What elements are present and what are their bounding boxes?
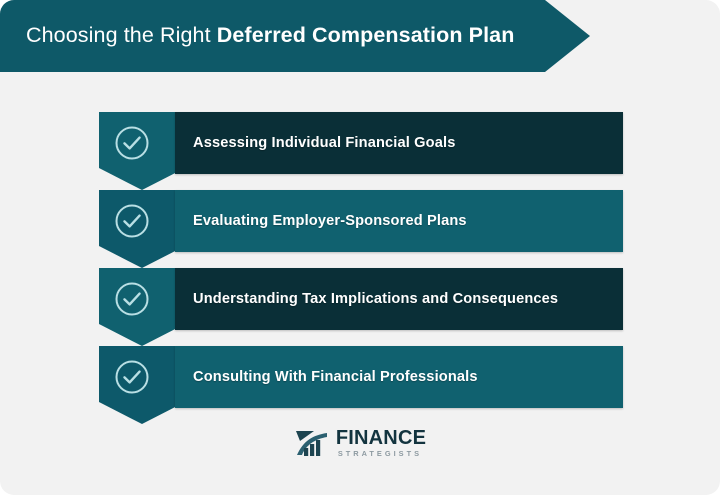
step-label: Understanding Tax Implications and Conse… <box>193 291 558 307</box>
header-banner: Choosing the Right Deferred Compensation… <box>0 0 590 72</box>
infographic-canvas: Choosing the Right Deferred Compensation… <box>0 0 720 495</box>
check-circle-icon <box>113 202 151 240</box>
bar-chart-arrow-icon <box>294 428 330 458</box>
step-label: Assessing Individual Financial Goals <box>193 135 456 151</box>
brand-logo: FINANCE STRATEGISTS <box>0 428 720 458</box>
step-bar: Evaluating Employer-Sponsored Plans <box>175 190 623 252</box>
logo-subtitle: STRATEGISTS <box>336 450 426 457</box>
check-circle-icon <box>113 280 151 318</box>
step-badge <box>99 190 185 268</box>
list-item[interactable]: Consulting With Financial Professionals <box>0 346 720 424</box>
list-item[interactable]: Assessing Individual Financial Goals <box>0 112 720 190</box>
check-circle-icon <box>113 124 151 162</box>
logo-wordmark: FINANCE STRATEGISTS <box>336 428 426 457</box>
step-bar: Assessing Individual Financial Goals <box>175 112 623 174</box>
step-list: Assessing Individual Financial Goals Eva… <box>0 112 720 424</box>
page-title: Choosing the Right Deferred Compensation… <box>26 24 514 48</box>
step-label: Evaluating Employer-Sponsored Plans <box>193 213 467 229</box>
list-item[interactable]: Understanding Tax Implications and Conse… <box>0 268 720 346</box>
step-label: Consulting With Financial Professionals <box>193 369 478 385</box>
step-badge <box>99 346 185 424</box>
list-item[interactable]: Evaluating Employer-Sponsored Plans <box>0 190 720 268</box>
step-badge <box>99 112 185 190</box>
page-title-regular: Choosing the Right <box>26 23 217 47</box>
step-bar: Consulting With Financial Professionals <box>175 346 623 408</box>
step-badge <box>99 268 185 346</box>
check-circle-icon <box>113 358 151 396</box>
page-title-strong: Deferred Compensation Plan <box>217 23 515 47</box>
logo-name: FINANCE <box>336 428 426 448</box>
step-bar: Understanding Tax Implications and Conse… <box>175 268 623 330</box>
